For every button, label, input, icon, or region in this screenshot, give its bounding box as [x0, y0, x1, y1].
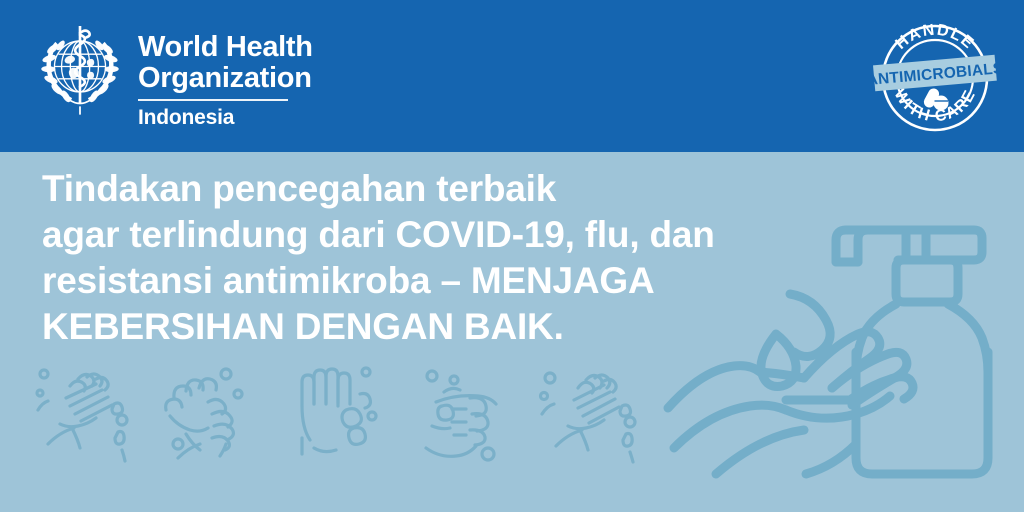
hands-rub-thumb-icon [426, 371, 496, 460]
soap-dispenser-illustration [660, 158, 1024, 498]
hands-rub-palm-to-palm-icon [37, 370, 127, 461]
who-emblem-icon [36, 22, 124, 118]
who-logo-text: World Health Organization Indonesia [138, 22, 313, 129]
hands-rub-fingertips-icon [541, 373, 636, 462]
poster: World Health Organization Indonesia HAND… [0, 0, 1024, 512]
handwashing-steps-strip [26, 358, 666, 478]
logo-divider [138, 99, 288, 101]
hands-rub-back-of-hand-icon [302, 368, 376, 454]
hands-interlace-fingers-icon [166, 369, 242, 458]
svg-text:HANDLE: HANDLE [893, 22, 978, 53]
header-bar: World Health Organization Indonesia HAND… [0, 0, 1024, 152]
who-logo: World Health Organization Indonesia [36, 22, 313, 129]
who-country-label: Indonesia [138, 106, 313, 129]
stamp-top-text: HANDLE [893, 22, 978, 53]
who-org-line2: Organization [138, 63, 313, 94]
who-org-line1: World Health [138, 32, 313, 63]
handle-antimicrobials-with-care-stamp: HANDLE WITH CARE ANTIMICROBIALS [870, 14, 1000, 140]
